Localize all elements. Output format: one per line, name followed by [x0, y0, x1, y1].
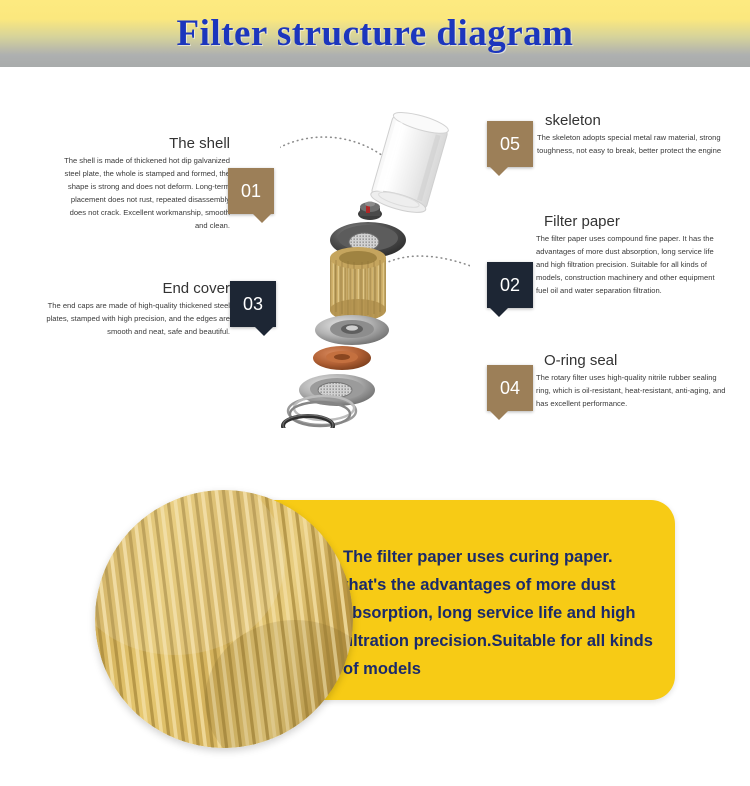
- page-title: Filter structure diagram: [0, 12, 750, 55]
- part-washer-plate: [315, 315, 389, 345]
- pleated-paper-image: [95, 490, 353, 748]
- callout-03-title: End cover: [45, 280, 230, 297]
- badge-01-number: 01: [241, 182, 261, 200]
- callout-05-text: The skeleton adopts special metal raw ma…: [537, 132, 722, 158]
- callout-01-text: The shell is made of thickened hot dip g…: [55, 155, 230, 232]
- callout-05-title: skeleton: [537, 112, 722, 129]
- callout-03-text: The end caps are made of high-quality th…: [45, 300, 230, 339]
- callout-05: skeleton The skeleton adopts special met…: [537, 112, 722, 158]
- callout-04: O-ring seal The rotary filter uses high-…: [536, 352, 726, 411]
- badge-04-number: 04: [500, 379, 520, 397]
- part-filter-element: [330, 247, 386, 321]
- highlight-panel-text: The filter paper uses curing paper. that…: [343, 543, 653, 683]
- part-housing-shell: [369, 108, 450, 216]
- part-valve: [358, 202, 382, 221]
- badge-02-number: 02: [500, 276, 520, 294]
- callout-02-title: Filter paper: [536, 213, 726, 230]
- page-header: Filter structure diagram: [0, 0, 750, 67]
- badge-05-number: 05: [500, 135, 520, 153]
- callout-01-title: The shell: [55, 135, 230, 152]
- callout-01: The shell The shell is made of thickened…: [55, 135, 230, 232]
- filter-paper-photo: [95, 490, 353, 748]
- callout-03: End cover The end caps are made of high-…: [45, 280, 230, 339]
- badge-04[interactable]: 04: [487, 365, 533, 411]
- callout-04-text: The rotary filter uses high-quality nitr…: [536, 372, 726, 411]
- callout-04-title: O-ring seal: [536, 352, 726, 369]
- part-copper-gasket: [313, 346, 371, 370]
- exploded-filter-diagram: [280, 108, 470, 428]
- connector-line-01: [280, 137, 383, 180]
- badge-03[interactable]: 03: [230, 281, 276, 327]
- part-lower-end-cap: [299, 374, 375, 406]
- badge-05[interactable]: 05: [487, 121, 533, 167]
- badge-02[interactable]: 02: [487, 262, 533, 308]
- badge-01[interactable]: 01: [228, 168, 274, 214]
- badge-03-number: 03: [243, 295, 263, 313]
- callout-02-text: The filter paper uses compound fine pape…: [536, 233, 726, 298]
- callout-02: Filter paper The filter paper uses compo…: [536, 213, 726, 298]
